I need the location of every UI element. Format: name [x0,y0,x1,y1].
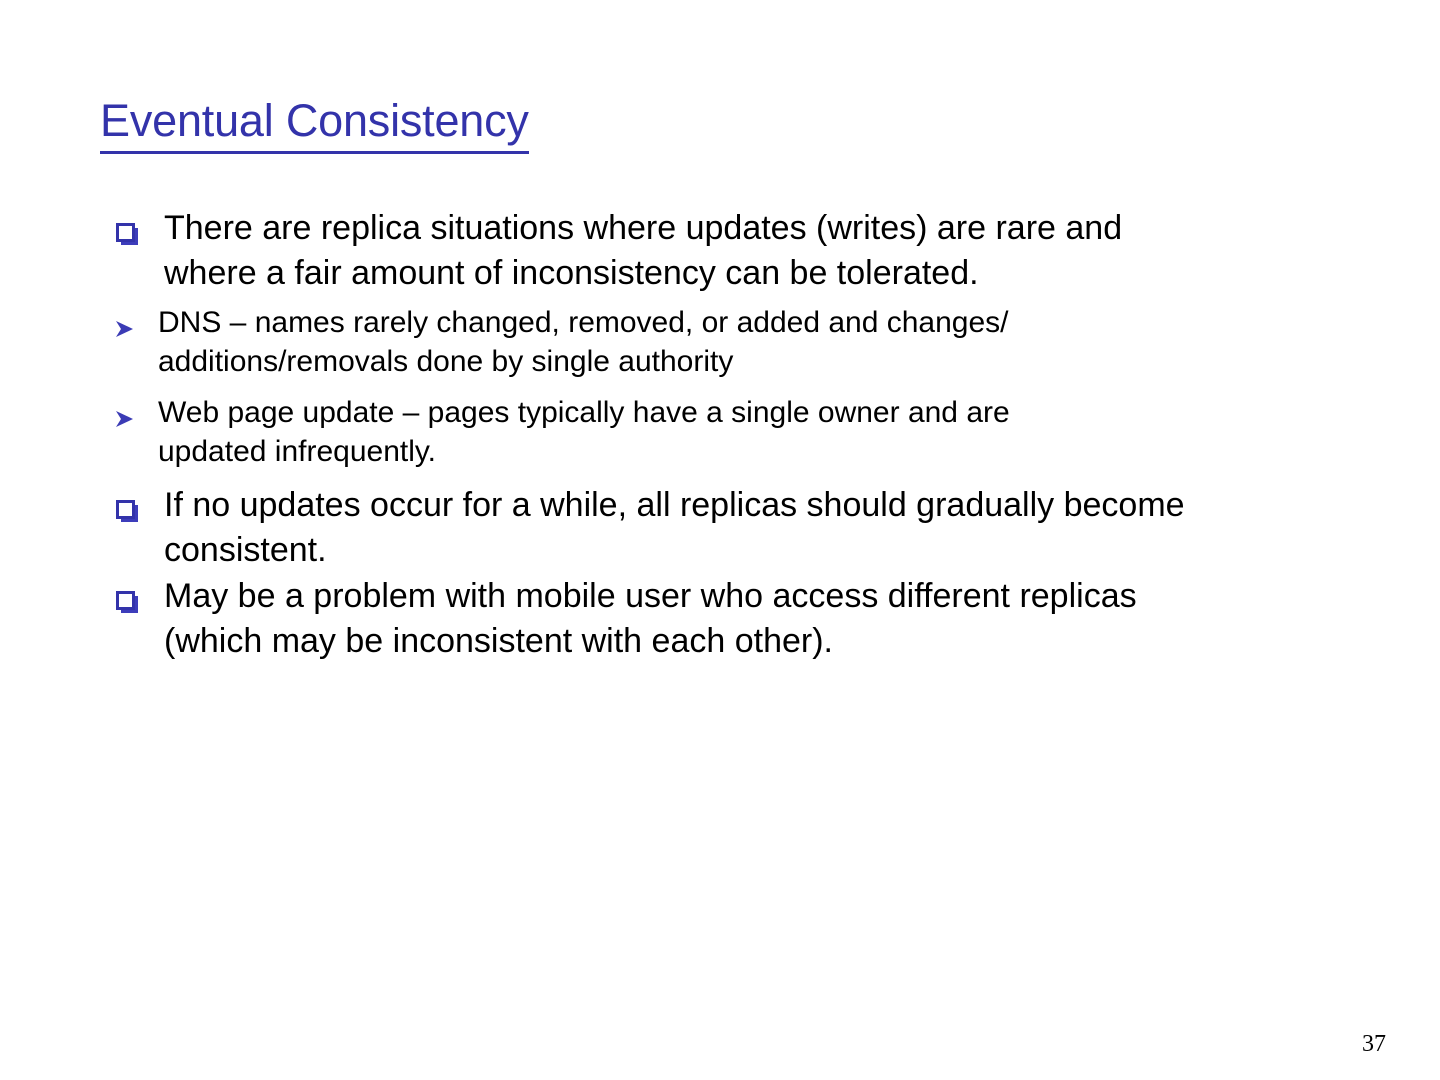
hollow-square-bullet-icon [108,485,164,530]
list-item-text: May be a problem with mobile user who ac… [164,574,1386,663]
arrow-bullet-icon [108,399,158,438]
text-line: (which may be inconsistent with each oth… [164,619,1386,664]
list-item: If no updates occur for a while, all rep… [108,483,1398,572]
hollow-square-bullet-icon [108,208,164,253]
text-line: Web page update – pages typically have a… [158,393,1248,432]
list-item-text: If no updates occur for a while, all rep… [164,483,1386,572]
text-line: If no updates occur for a while, all rep… [164,483,1386,528]
text-line: There are replica situations where updat… [164,206,1386,251]
list-item: Web page update – pages typically have a… [108,393,1398,471]
sub-list: DNS – names rarely changed, removed, or … [108,303,1398,471]
list-item: DNS – names rarely changed, removed, or … [108,303,1398,381]
text-line: May be a problem with mobile user who ac… [164,574,1386,619]
text-line: additions/removals done by single author… [158,342,1248,381]
page-title: Eventual Consistency [100,96,1340,154]
hollow-square-bullet-icon [108,576,164,621]
list-item: There are replica situations where updat… [108,206,1398,295]
list-item-text: Web page update – pages typically have a… [158,393,1248,471]
list-item-text: DNS – names rarely changed, removed, or … [158,303,1248,381]
text-line: where a fair amount of inconsistency can… [164,251,1386,296]
page-title-text: Eventual Consistency [100,96,529,154]
page-number: 37 [1362,1031,1386,1058]
slide-canvas: Eventual Consistency There are replica s… [0,0,1440,1080]
arrow-bullet-icon [108,309,158,348]
text-line: consistent. [164,528,1386,573]
slide-body: There are replica situations where updat… [108,206,1398,665]
text-line: updated infrequently. [158,432,1248,471]
list-item: May be a problem with mobile user who ac… [108,574,1398,663]
text-line: DNS – names rarely changed, removed, or … [158,303,1248,342]
list-item-text: There are replica situations where updat… [164,206,1386,295]
